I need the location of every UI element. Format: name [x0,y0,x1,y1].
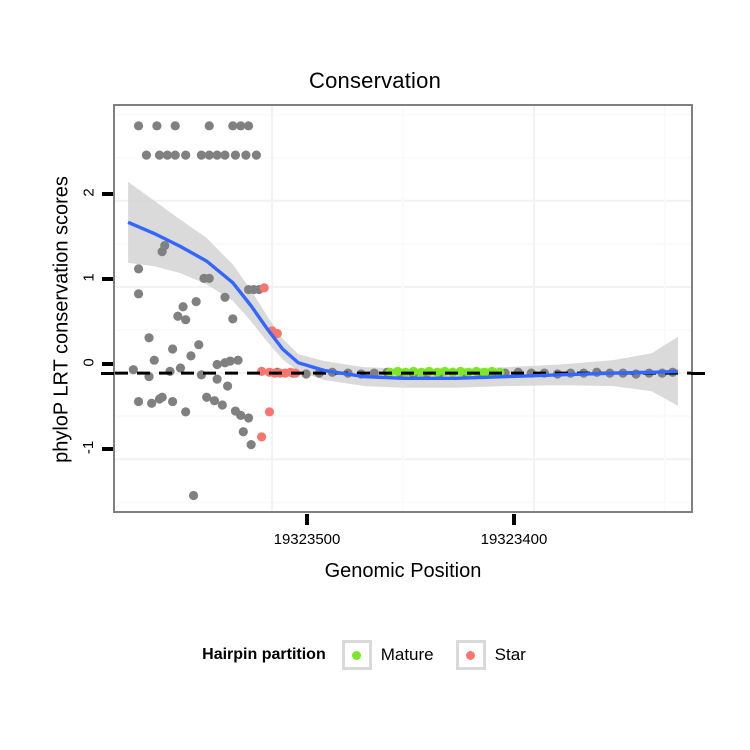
zero-line-overhang [691,372,705,375]
data-point [134,289,143,298]
data-point [142,151,151,160]
data-point [244,121,253,130]
conservation-plot-figure: Conservation phyloP LRT conservation sco… [0,0,750,750]
legend-title: Hairpin partition [202,646,326,664]
data-point [152,121,161,130]
page-title: Conservation [0,68,750,94]
y-tick-mark-1 [102,277,113,281]
data-point [239,427,248,436]
data-point [213,151,222,160]
data-point [158,247,167,256]
data-point [186,351,195,360]
data-point [181,151,190,160]
data-point [181,407,190,416]
plot-panel [113,104,693,513]
y-tick-label-2: 2 [72,184,106,201]
data-point [218,400,227,409]
x-axis-title: Genomic Position [113,560,693,583]
data-point [205,121,214,130]
data-point [134,397,143,406]
data-point [176,363,185,372]
y-tick-mark-neg1 [102,447,113,451]
data-point [163,151,172,160]
data-point [173,312,182,321]
data-point [220,151,229,160]
data-point [178,302,187,311]
data-point [247,440,256,449]
data-point [252,151,261,160]
x-tick-mark-2 [512,514,516,525]
y-tick-mark-0 [102,362,113,366]
data-point [257,432,266,441]
y-axis-title: phyloP LRT conservation scores [51,110,74,530]
data-point [158,393,167,402]
data-point [150,356,159,365]
data-point [171,151,180,160]
data-point [192,297,201,306]
y-tick-label-neg1: -1 [72,439,106,456]
data-point [194,340,203,349]
data-point [223,381,232,390]
data-point [226,356,235,365]
legend-dot-mature-icon [352,651,361,660]
y-tick-label-1: 1 [72,269,106,286]
data-point [244,413,253,422]
data-point [189,491,198,500]
data-point [210,396,219,405]
data-point [147,399,156,408]
data-point [168,397,177,406]
zero-line-overhang [101,372,114,375]
data-point [213,360,222,369]
data-point [260,283,269,292]
data-point [134,121,143,130]
gridlines [115,106,691,511]
data-point [241,151,250,160]
legend-label-mature: Mature [381,645,434,665]
x-tick-label-1: 19323500 [274,531,341,548]
data-point [231,151,240,160]
data-point [220,293,229,302]
data-point [228,121,237,130]
legend-key-star[interactable] [456,640,486,670]
data-point [233,356,242,365]
data-point [236,411,245,420]
data-point [181,315,190,324]
data-point [205,151,214,160]
data-point [134,264,143,273]
data-point [155,151,164,160]
data-point [213,375,222,384]
y-tick-label-0: 0 [72,354,106,371]
plot-canvas [115,106,691,511]
legend-label-star: Star [495,645,526,665]
data-point [236,121,245,130]
data-point [265,407,274,416]
y-tick-mark-2 [102,192,113,196]
legend-dot-star-icon [466,651,475,660]
data-point [202,393,211,402]
data-point [171,121,180,130]
legend: Hairpin partition Mature Star [0,640,750,670]
data-point [393,367,402,376]
data-point [205,274,214,283]
data-point [129,365,138,374]
x-tick-label-2: 19323400 [481,531,548,548]
data-point [168,344,177,353]
x-tick-mark-1 [305,514,309,525]
data-point [144,333,153,342]
legend-key-mature[interactable] [342,640,372,670]
data-point [197,151,206,160]
data-point [480,368,489,377]
data-point [228,314,237,323]
